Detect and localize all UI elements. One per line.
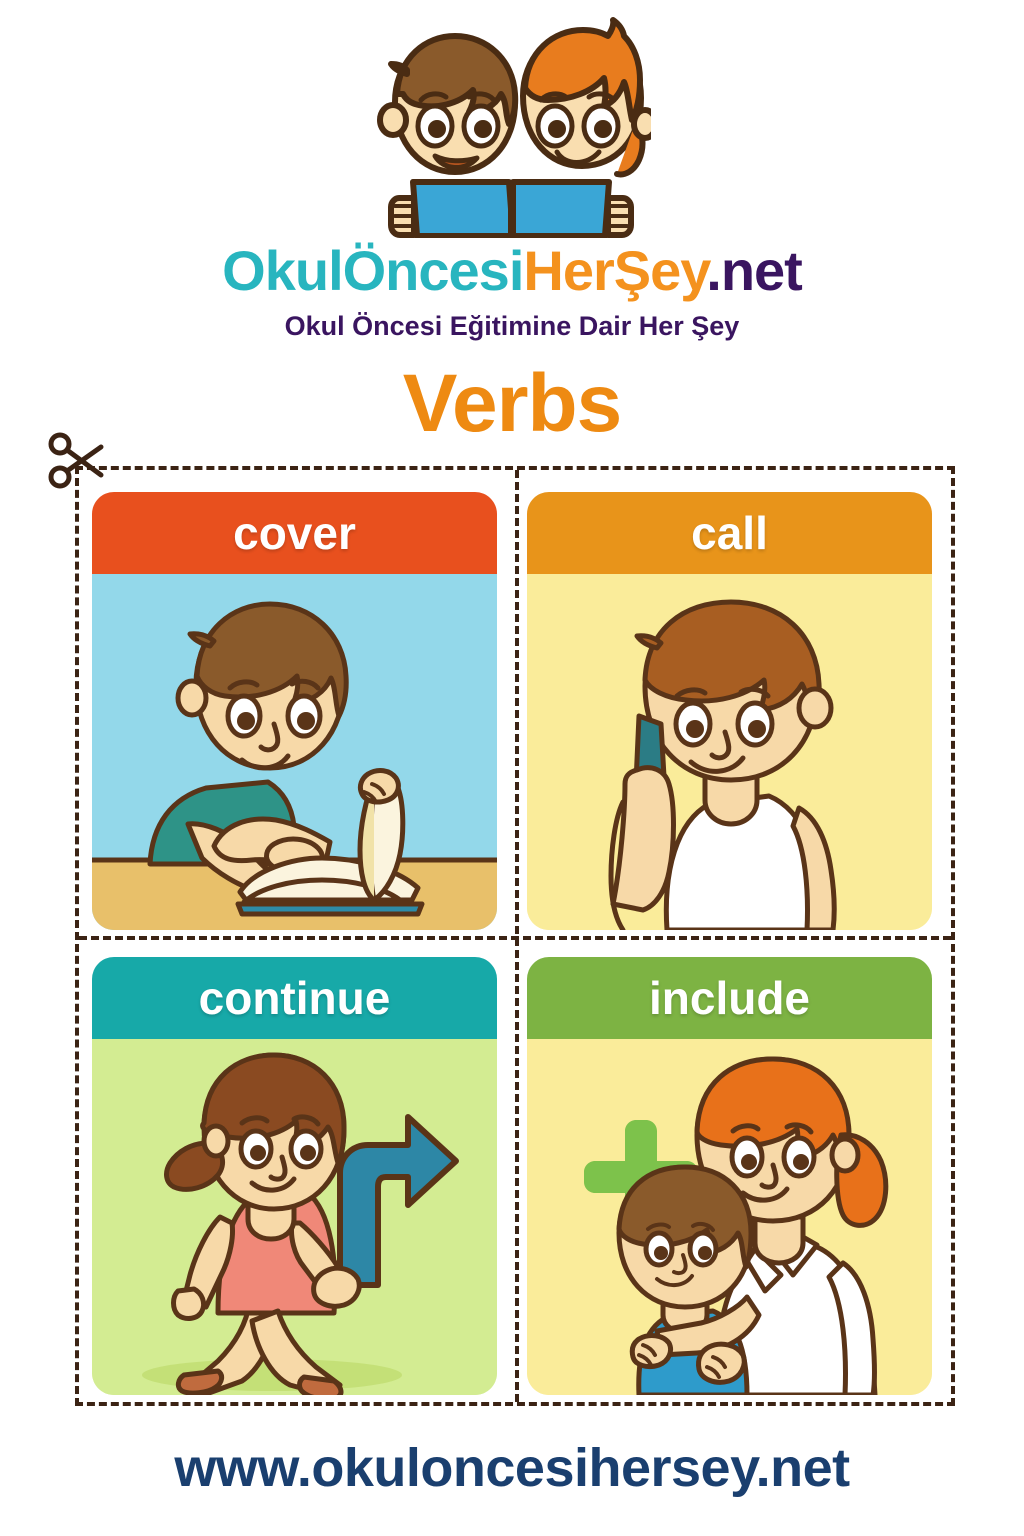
page-title: Verbs bbox=[0, 363, 1024, 445]
flashcard-cover[interactable]: cover bbox=[92, 492, 497, 930]
site-tagline: Okul Öncesi Eğitimine Dair Her Şey bbox=[0, 313, 1024, 340]
logo-part-1: OkulÖncesi bbox=[222, 239, 523, 302]
flashcard-include-label: include bbox=[527, 957, 932, 1039]
poster-page: OkulÖncesiHerŞey.net Okul Öncesi Eğitimi… bbox=[0, 0, 1024, 1536]
flashcard-call-label: call bbox=[527, 492, 932, 574]
flashcard-include[interactable]: include bbox=[527, 957, 932, 1395]
flashcard-call-illustration bbox=[527, 574, 932, 930]
flashcard-include-illustration bbox=[527, 1039, 932, 1395]
site-logo: OkulÖncesiHerŞey.net bbox=[0, 243, 1024, 299]
footer-website-url[interactable]: www.okuloncesihersey.net bbox=[0, 1441, 1024, 1495]
cut-guide-horizontal-divider bbox=[79, 936, 951, 940]
flashcard-cover-label: cover bbox=[92, 492, 497, 574]
flashcard-continue[interactable]: continue bbox=[92, 957, 497, 1395]
flashcard-call[interactable]: call bbox=[527, 492, 932, 930]
flashcard-continue-illustration bbox=[92, 1039, 497, 1395]
flashcard-continue-label: continue bbox=[92, 957, 497, 1039]
mascot-icon bbox=[0, 14, 1024, 239]
logo-part-2: HerŞey bbox=[523, 239, 706, 302]
flashcard-cover-illustration bbox=[92, 574, 497, 930]
logo-part-3: .net bbox=[706, 239, 802, 302]
